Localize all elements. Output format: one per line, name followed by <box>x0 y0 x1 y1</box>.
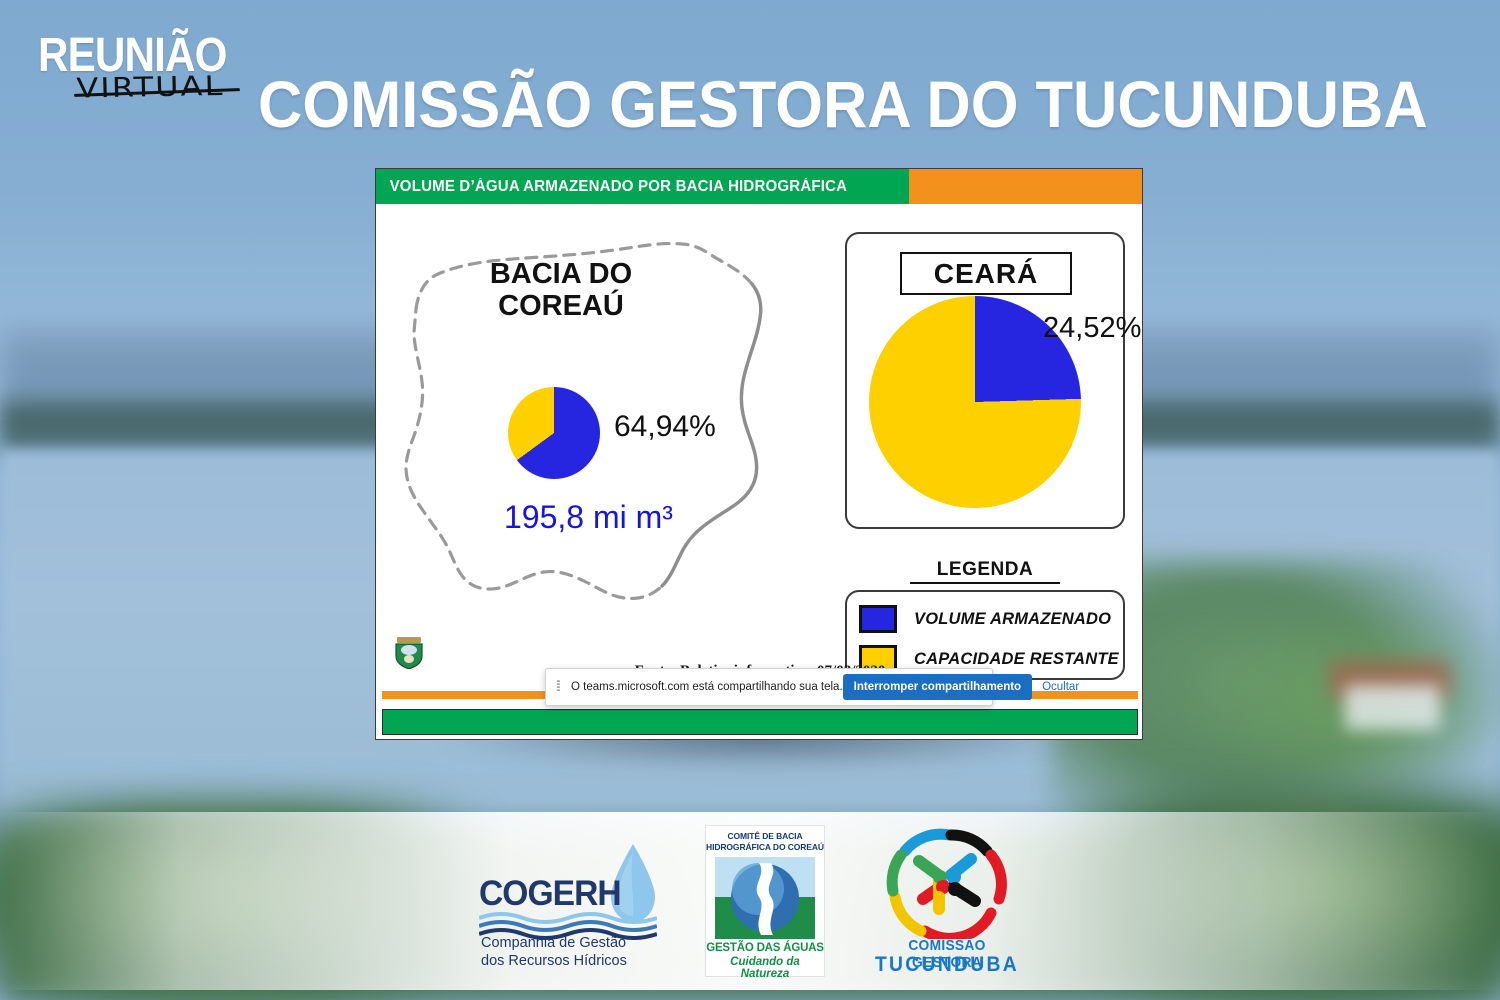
state-label: CEARÁ <box>934 258 1039 290</box>
slide-header-orange <box>909 169 1143 204</box>
cogerh-tagline-line2: dos Recursos Hídricos <box>481 952 661 970</box>
stop-sharing-button[interactable]: Interromper compartilhamento <box>843 674 1032 700</box>
basin-map: BACIA DO COREAÚ 64,94% 195,8 mi m³ <box>386 214 816 634</box>
basin-volume-label: 195,8 mi m³ <box>504 499 673 536</box>
interlocking-hands-icon <box>879 827 1013 939</box>
state-percent-label: 24,52% <box>1043 312 1141 345</box>
legend-item-stored: VOLUME ARMAZENADO <box>859 599 1123 639</box>
cogerh-tagline: Companhia de Gestão dos Recursos Hídrico… <box>481 934 661 970</box>
slide-header-bar: VOLUME D’ÁGUA ARMAZENADO POR BACIA HIDRO… <box>376 169 1143 204</box>
legend-swatch-stored <box>859 605 897 633</box>
tucunduba-line2: TUCUNDUBA <box>873 953 1020 977</box>
background-vegetation-right-2 <box>1180 600 1500 800</box>
comite-slogan-line1: GESTÃO DAS ÁGUAS <box>706 942 824 954</box>
hide-sharing-link[interactable]: Ocultar <box>1032 681 1085 693</box>
logo-cogerh: COGERH Companhia de Gestão dos Recursos … <box>473 836 663 966</box>
state-panel: CEARÁ 24,52% <box>845 232 1125 529</box>
comite-title-line1: COMITÊ DE BACIA <box>706 831 824 842</box>
cogerh-tagline-line1: Companhia de Gestão <box>481 934 661 952</box>
basin-pie-chart <box>508 387 600 479</box>
slide-header-title: VOLUME D’ÁGUA ARMAZENADO POR BACIA HIDRO… <box>376 178 847 196</box>
slide-footer-green-bar <box>382 709 1138 735</box>
presentation-slide: VOLUME D’ÁGUA ARMAZENADO POR BACIA HIDRO… <box>375 168 1143 740</box>
comite-title: COMITÊ DE BACIA HIDROGRÁFICA DO COREAÚ <box>706 831 824 853</box>
ceara-coat-of-arms-icon <box>394 635 424 669</box>
legend-label-stored: VOLUME ARMAZENADO <box>914 610 1111 629</box>
logo-comite-bacia-coreau: COMITÊ DE BACIA HIDROGRÁFICA DO COREAÚ G… <box>705 825 825 977</box>
background-house <box>1345 685 1440 730</box>
basin-label: BACIA DO COREAÚ <box>446 258 676 322</box>
basin-percent-label: 64,94% <box>614 410 716 444</box>
screen-share-notification[interactable]: ⦙⦙ O teams.microsoft.com está compartilh… <box>545 668 993 706</box>
footer-logos: COGERH Companhia de Gestão dos Recursos … <box>0 812 1500 990</box>
state-label-box: CEARÁ <box>900 252 1072 295</box>
share-message: O teams.microsoft.com está compartilhand… <box>566 681 843 693</box>
legend-title: LEGENDA <box>910 559 1060 584</box>
logo-comissao-gestora-tucunduba: COMISSÃO GESTORA TUCUNDUBA <box>867 827 1027 975</box>
drag-handle-icon[interactable]: ⦙⦙ <box>556 680 566 694</box>
cogerh-wordmark: COGERH <box>479 874 621 914</box>
comite-slogan-line2: Cuidando da Natureza <box>706 956 824 980</box>
page-title: COMISSÃO GESTORA DO TUCUNDUBA <box>258 72 1300 136</box>
slide-header-green: VOLUME D’ÁGUA ARMAZENADO POR BACIA HIDRO… <box>376 169 909 204</box>
river-sphere-icon <box>715 857 815 939</box>
meeting-badge-secondary: VIRTUAL <box>76 69 225 104</box>
comite-title-line2: HIDROGRÁFICA DO COREAÚ <box>706 842 824 853</box>
